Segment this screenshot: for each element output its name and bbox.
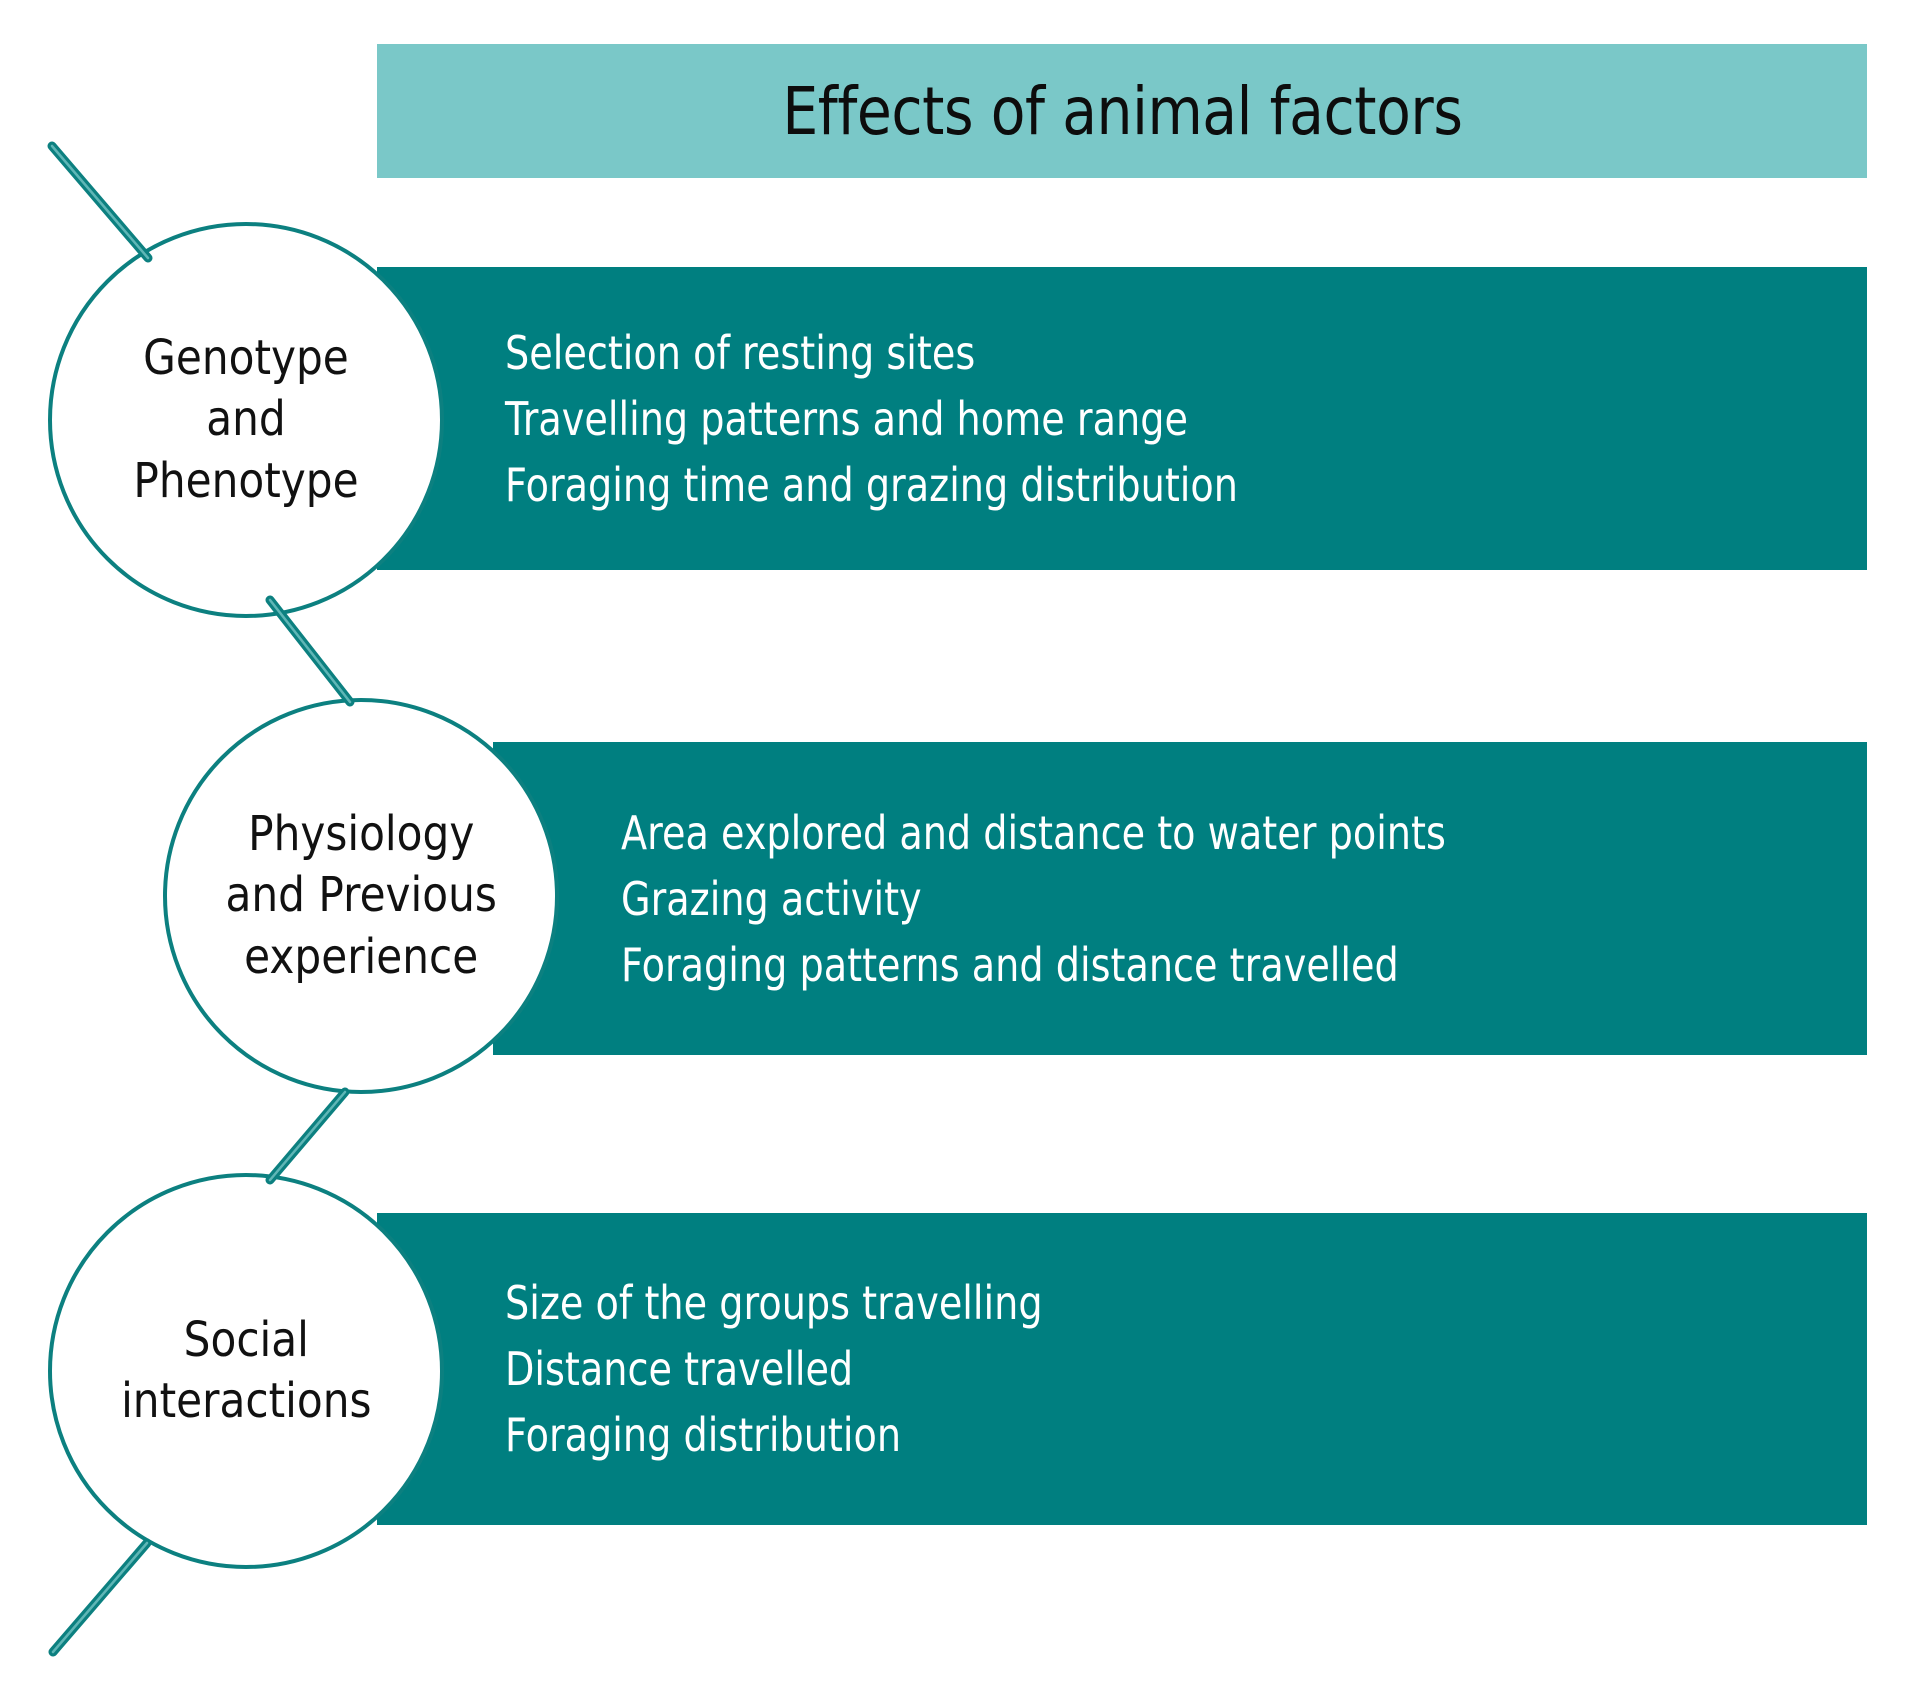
effect-item: Foraging time and grazing distribution (505, 462, 1635, 508)
effect-item: Foraging patterns and distance travelled (621, 942, 1655, 988)
connector-node1-node2 (270, 600, 350, 702)
connector-tail-top (52, 146, 148, 258)
diagram-canvas: Effects of animal factors Selection of r… (0, 0, 1909, 1693)
connector-node2-node3 (270, 1092, 345, 1180)
effect-item: Grazing activity (621, 876, 1655, 922)
page-title: Effects of animal factors (782, 73, 1462, 150)
node-social-interactions[interactable]: Social interactions (48, 1173, 444, 1569)
node-label: Social interactions (121, 1310, 371, 1433)
effect-item: Foraging distribution (505, 1412, 1635, 1458)
node-label: Genotype and Phenotype (133, 328, 358, 512)
effect-item: Selection of resting sites (505, 330, 1635, 376)
effects-box-genotype-and-phenotype: Selection of resting sites Travelling pa… (377, 267, 1867, 570)
effect-item: Area explored and distance to water poin… (621, 810, 1655, 856)
effect-item: Size of the groups travelling (505, 1280, 1635, 1326)
connector-tail-bottom (53, 1543, 147, 1652)
node-genotype-and-phenotype[interactable]: Genotype and Phenotype (48, 222, 444, 618)
diagram-title-banner: Effects of animal factors (377, 44, 1867, 178)
effects-box-physiology-and-previous-experience: Area explored and distance to water poin… (493, 742, 1867, 1055)
effect-item: Travelling patterns and home range (505, 396, 1635, 442)
effect-item: Distance travelled (505, 1346, 1635, 1392)
node-label: Physiology and Previous experience (225, 804, 496, 988)
effects-box-social-interactions: Size of the groups travelling Distance t… (377, 1213, 1867, 1525)
node-physiology-and-previous-experience[interactable]: Physiology and Previous experience (163, 698, 559, 1094)
